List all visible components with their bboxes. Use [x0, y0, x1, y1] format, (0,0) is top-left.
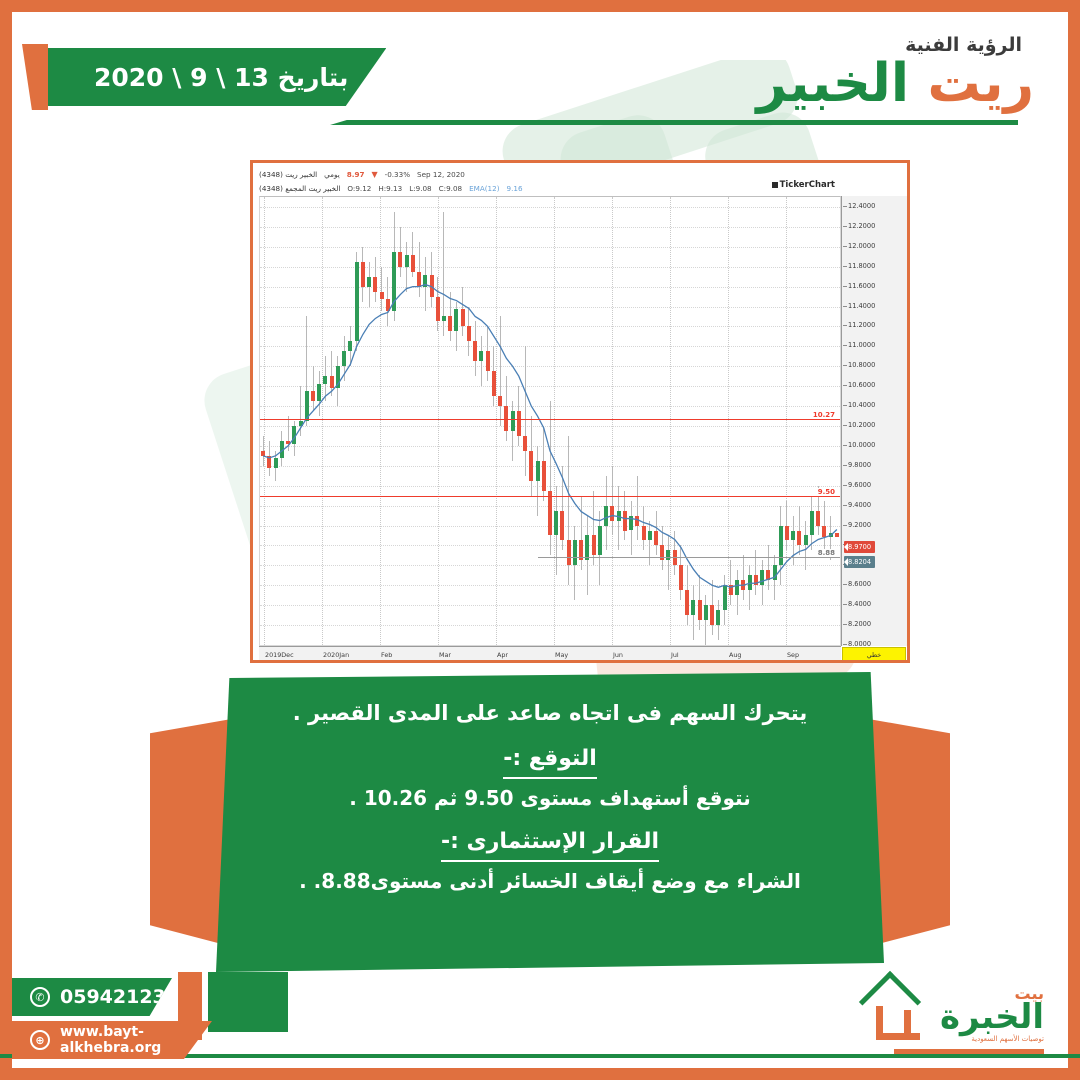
level-label: 10.27	[811, 411, 837, 419]
ema-line	[260, 197, 840, 645]
chart-change-pct: -0.33%	[385, 170, 410, 179]
logo-wordmark: بيت الخبرة توصيات الأسهم السعودية	[940, 986, 1044, 1043]
price-axis-tick: 12.0000	[848, 242, 875, 250]
chart-plot-area: 10.279.508.88 12.400012.200012.000011.80…	[253, 196, 907, 663]
price-axis-tick: 9.2000	[848, 521, 871, 529]
chart-open: O:9.12	[347, 184, 371, 193]
footer-phone: 0594212312	[60, 986, 192, 1008]
analysis-heading-decision: القرار الإستثمارى :-	[441, 829, 659, 862]
price-axis-tick: 10.8000	[848, 361, 875, 369]
frame-border-left	[0, 0, 12, 1080]
price-axis-tick: 10.0000	[848, 441, 875, 449]
brand-title: ريت الخبير	[757, 59, 1035, 109]
date-ribbon-tab	[22, 44, 48, 110]
chart-close: C:9.08	[439, 184, 462, 193]
analysis-panel: يتحرك السهم فى اتجاه صاعد على المدى القص…	[216, 672, 884, 972]
price-plot[interactable]: 10.279.508.88	[259, 196, 841, 646]
chart-mode-tag[interactable]: خطي	[842, 647, 906, 663]
date-axis-tick: Feb	[381, 651, 392, 659]
company-logo: بيت الخبرة توصيات الأسهم السعودية	[854, 976, 1044, 1060]
level-label: 9.50	[816, 488, 837, 496]
whatsapp-icon: ✆	[30, 987, 50, 1007]
brand-title-part-b: ريت	[927, 53, 1034, 114]
tickerchart-mark-icon	[772, 182, 778, 188]
price-badge-ema: 8.8204	[844, 556, 875, 568]
poster-canvas: بتاريخ 13 \ 9 \ 2020 الرؤية الفنية ريت ا…	[0, 0, 1080, 1080]
price-axis-tick: 11.6000	[848, 282, 875, 290]
footer-whatsapp[interactable]: ✆ 0594212312	[12, 978, 172, 1016]
price-axis-tick: 9.6000	[848, 481, 871, 489]
date-axis-tick: Jun	[613, 651, 623, 659]
date-axis-tick: Mar	[439, 651, 451, 659]
price-axis-tick: 8.2000	[848, 620, 871, 628]
header-divider-left	[330, 120, 750, 125]
price-axis-tick: 8.4000	[848, 600, 871, 608]
footer-accent-green	[208, 972, 288, 1032]
logo-main-word: الخبرة	[940, 1000, 1044, 1034]
down-arrow-icon: ▼	[371, 170, 377, 179]
price-axis-tick: 12.4000	[848, 202, 875, 210]
chart-ema-label: EMA(12)	[469, 184, 499, 193]
chart-header: الخبير ريت (4348) يومي 8.97 ▼ -0.33% Sep…	[253, 163, 907, 196]
chart-low: L:9.08	[409, 184, 431, 193]
chart-ohlc-symbol: الخبير ريت المجمع (4348)	[259, 184, 340, 193]
brand-logo: الرؤية الفنية ريت الخبير	[757, 36, 1035, 109]
chart-ema-value: 9.16	[507, 184, 523, 193]
logo-house-arrow-icon	[862, 980, 926, 1042]
tickerchart-watermark: TickerChart	[772, 180, 835, 190]
date-axis-tick: 2020Jan	[323, 651, 349, 659]
analysis-line-3: الشراء مع وضع أيقاف الخسائر أدنى مستوى8.…	[270, 866, 830, 896]
analysis-line-2: نتوقع أستهداف مستوى 9.50 ثم 10.26 .	[270, 783, 830, 813]
price-axis-tick: 12.2000	[848, 222, 875, 230]
logo-underline	[894, 1049, 1044, 1054]
date-axis-tick: May	[555, 651, 568, 659]
resistance-line: 10.27	[260, 419, 840, 420]
tickerchart-label: TickerChart	[780, 180, 835, 190]
footer-website[interactable]: ⊕ www.bayt-alkhebra.org	[12, 1021, 212, 1059]
frame-border-bottom	[0, 1068, 1080, 1080]
date-axis-tick: Jul	[671, 651, 679, 659]
date-axis-tick: Sep	[787, 651, 799, 659]
price-axis-tick: 9.4000	[848, 501, 871, 509]
level-label: 8.88	[816, 549, 837, 557]
analysis-line-1: يتحرك السهم فى اتجاه صاعد على المدى القص…	[270, 698, 830, 730]
date-axis-tick: 2019Dec	[265, 651, 294, 659]
price-axis-tick: 8.6000	[848, 580, 871, 588]
date-axis-tick: Aug	[729, 651, 741, 659]
price-axis[interactable]: 12.400012.200012.000011.800011.600011.40…	[841, 196, 907, 646]
price-axis-tick: 11.0000	[848, 341, 875, 349]
date-axis-tick: Apr	[497, 651, 508, 659]
header-divider-right	[718, 120, 1018, 125]
globe-icon: ⊕	[30, 1030, 50, 1050]
date-ribbon: بتاريخ 13 \ 9 \ 2020	[48, 48, 386, 106]
price-axis-tick: 11.2000	[848, 321, 875, 329]
price-axis-tick: 10.2000	[848, 421, 875, 429]
logo-tagline: توصيات الأسهم السعودية	[940, 1036, 1044, 1043]
price-axis-tick: 10.6000	[848, 381, 875, 389]
price-axis-tick: 9.8000	[848, 461, 871, 469]
brand-title-part-a: الخبير	[757, 53, 910, 114]
resistance-line: 9.50	[260, 496, 840, 497]
chart-timeframe: يومي	[324, 170, 340, 179]
price-badge-last: 8.9700	[844, 541, 875, 553]
price-axis-tick: 10.4000	[848, 401, 875, 409]
footer-website-label: www.bayt-alkhebra.org	[60, 1024, 182, 1056]
price-axis-tick: 11.4000	[848, 302, 875, 310]
price-axis-tick: 11.8000	[848, 262, 875, 270]
chart-symbol: الخبير ريت (4348)	[259, 170, 317, 179]
chart-high: H:9.13	[378, 184, 402, 193]
date-axis[interactable]: 2019Dec2020JanFebMarAprMayJunJulAugSep	[259, 646, 841, 663]
frame-border-right	[1068, 0, 1080, 1080]
chart-card: الخبير ريت (4348) يومي 8.97 ▼ -0.33% Sep…	[250, 160, 910, 663]
frame-border-top	[0, 0, 1080, 12]
chart-quote-date: Sep 12, 2020	[417, 170, 465, 179]
analysis-heading-forecast: التوقع :-	[503, 746, 597, 779]
chart-last-price: 8.97	[347, 170, 365, 179]
support-line: 8.88	[538, 557, 840, 558]
analysis-panel-wrapper: يتحرك السهم فى اتجاه صاعد على المدى القص…	[150, 672, 950, 988]
